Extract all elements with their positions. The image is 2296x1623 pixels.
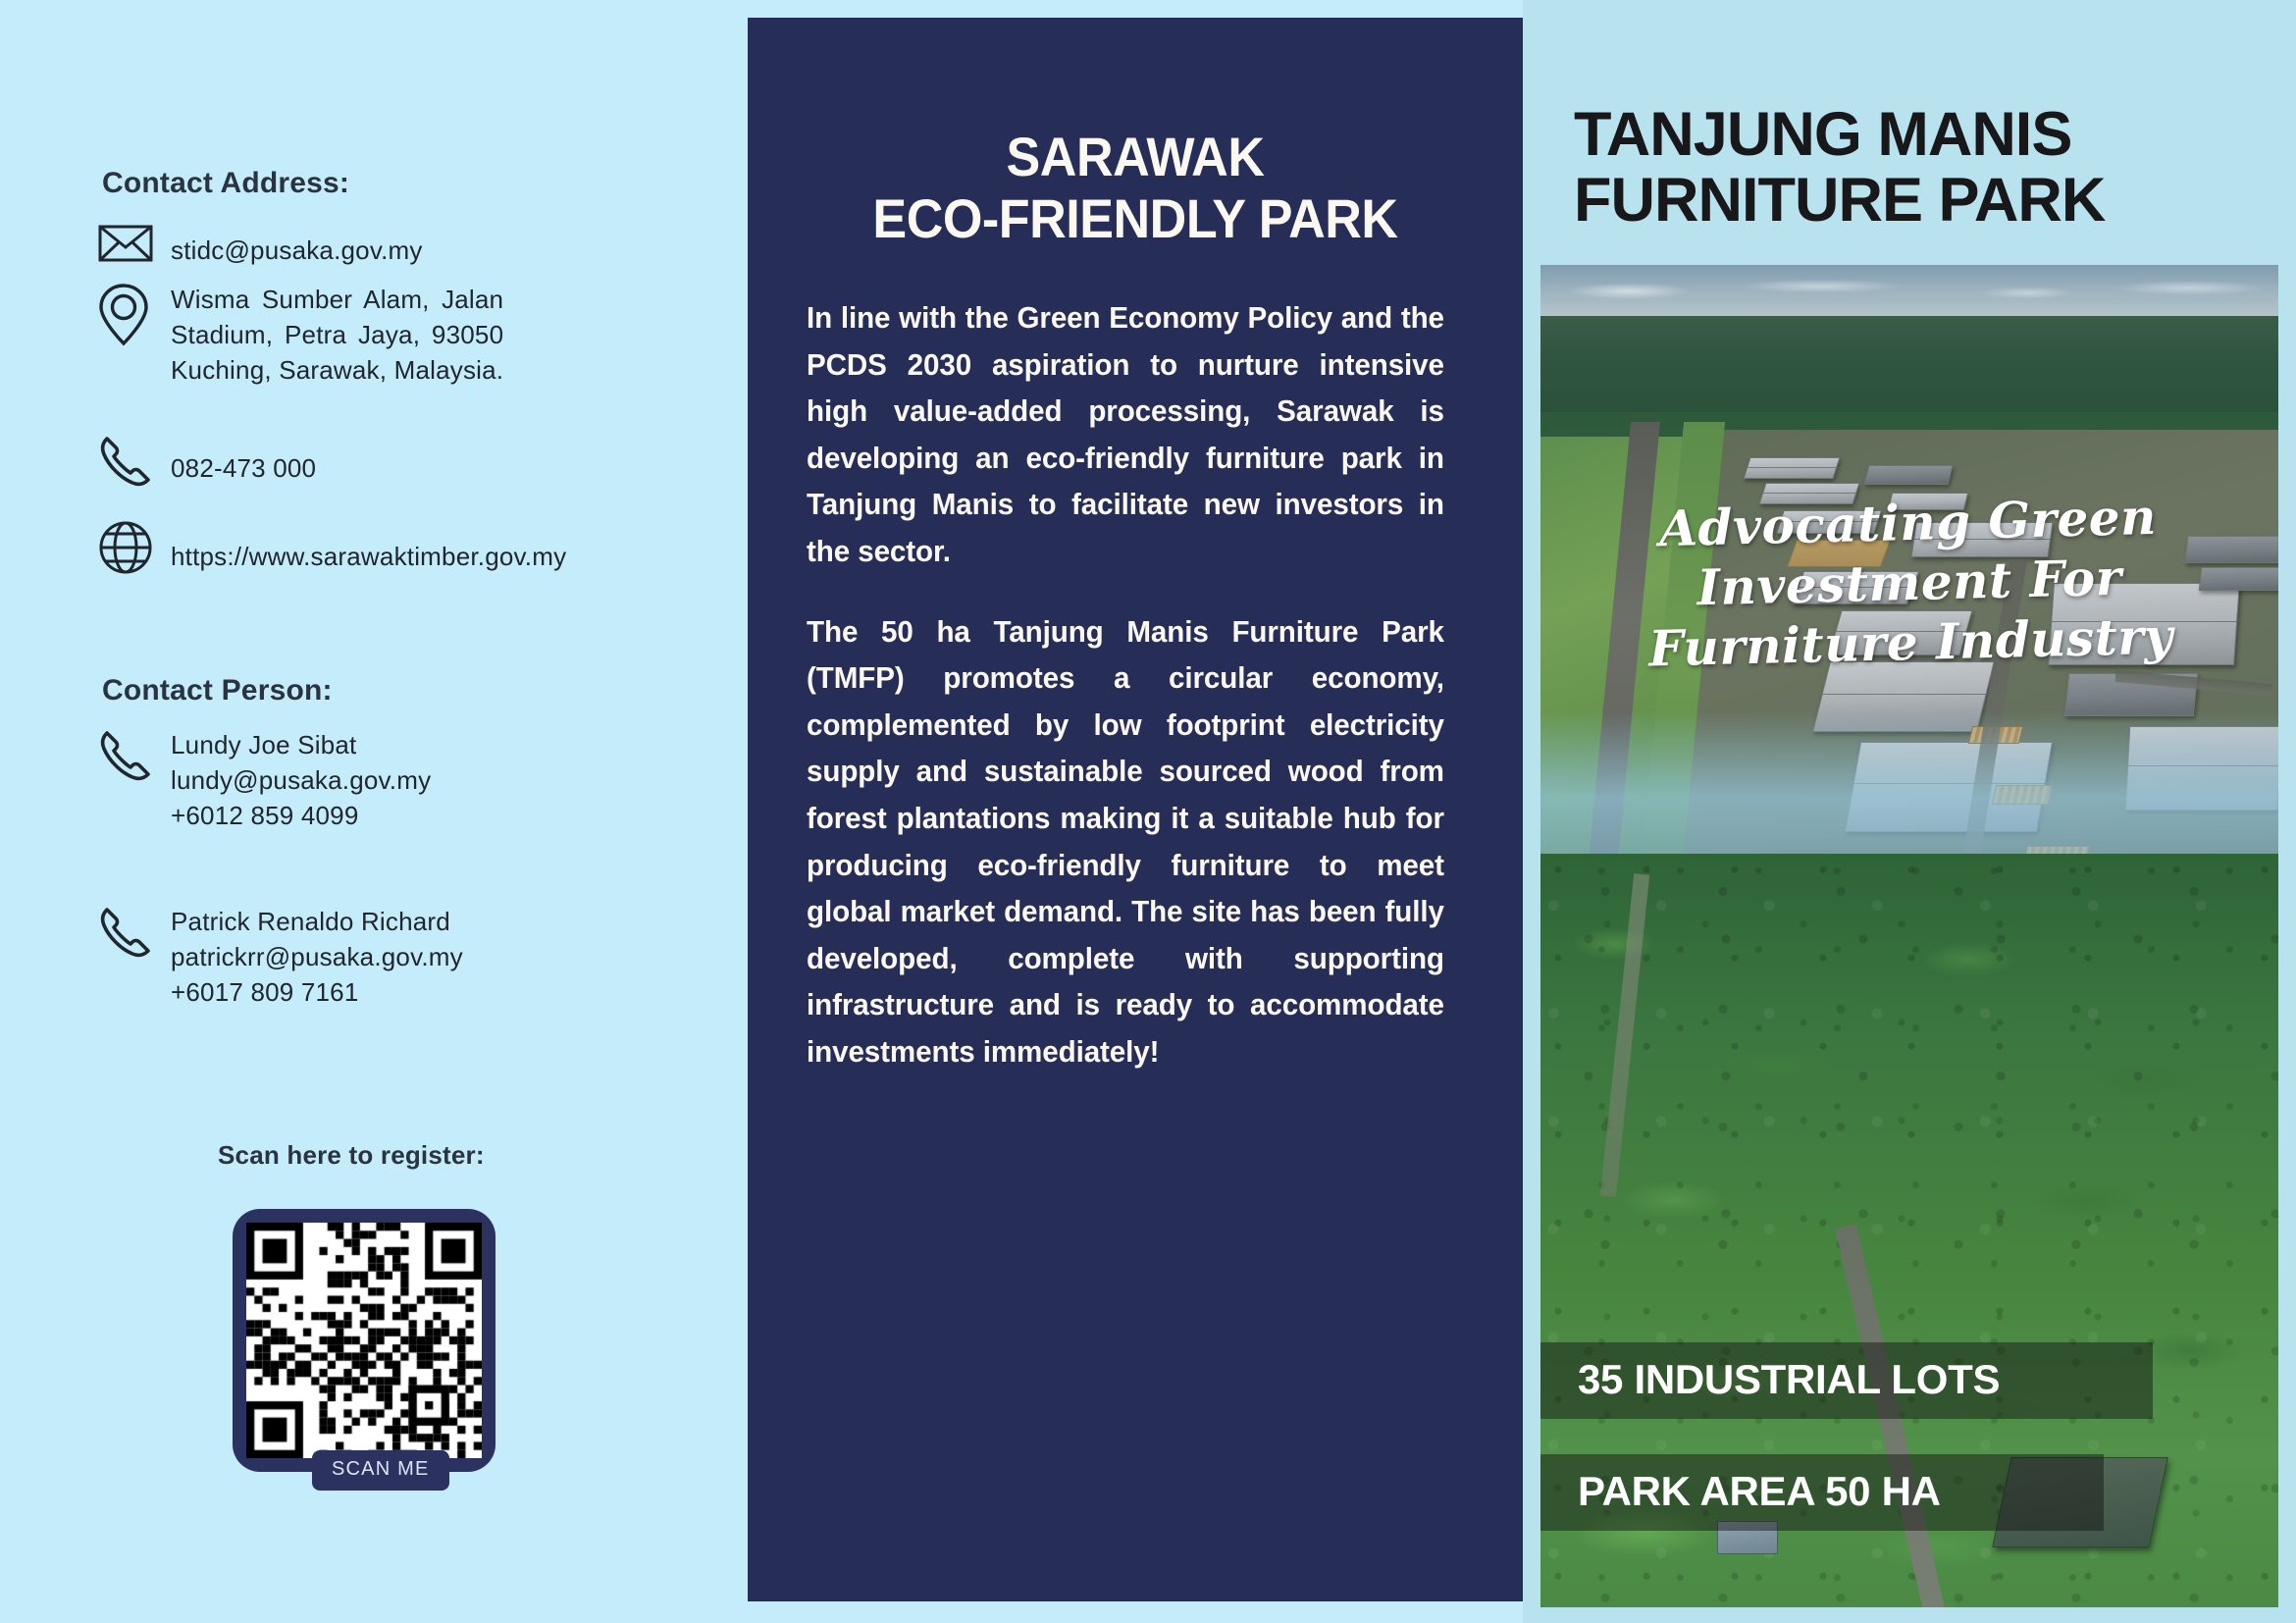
phone-icon: [98, 903, 171, 960]
person-2-email: patrickrr@pusaka.gov.my: [171, 940, 463, 975]
photo-title-line-1: TANJUNG MANIS: [1574, 100, 2071, 169]
panel-title-line-2: ECO-FRIENDLY PARK: [829, 187, 1440, 250]
contact-email[interactable]: stidc@pusaka.gov.my: [171, 224, 423, 269]
person-2-details: Patrick Renaldo Richard patrickrr@pusaka…: [171, 903, 463, 1011]
contact-phone[interactable]: 082-473 000: [171, 432, 316, 487]
qr-code-canvas: [246, 1223, 482, 1458]
contact-person-2: Patrick Renaldo Richard patrickrr@pusaka…: [98, 903, 667, 1011]
contact-person-heading: Contact Person:: [102, 674, 333, 707]
contact-address-heading: Contact Address:: [102, 167, 349, 200]
scan-me-badge: SCAN ME: [312, 1450, 449, 1491]
contact-row-email: stidc@pusaka.gov.my: [98, 224, 648, 269]
qr-code[interactable]: [233, 1209, 496, 1472]
photo-building: [1864, 465, 1954, 485]
map-pin-icon: [98, 283, 171, 347]
contact-row-phone: 082-473 000: [98, 432, 648, 489]
person-1-details: Lundy Joe Sibat lundy@pusaka.gov.my +601…: [171, 726, 431, 834]
panel-title: SARAWAK ECO-FRIENDLY PARK: [829, 126, 1440, 251]
description-panel: SARAWAK ECO-FRIENDLY PARK In line with t…: [748, 18, 1523, 1601]
address-line-3: Kuching, Sarawak, Malaysia.: [171, 353, 503, 389]
contact-panel: Contact Address: stidc@pusaka.gov.my: [0, 0, 748, 1623]
address-line-1: Wisma Sumber Alam, Jalan: [171, 283, 503, 318]
contact-person-1: Lundy Joe Sibat lundy@pusaka.gov.my +601…: [98, 726, 667, 834]
photo-tagline: Advocating Green Investment For Furnitur…: [1540, 484, 2278, 681]
phone-icon: [98, 432, 171, 489]
person-1-name: Lundy Joe Sibat: [171, 728, 431, 763]
contact-row-website: https://www.sarawaktimber.gov.my: [98, 520, 687, 575]
contact-row-address: Wisma Sumber Alam, Jalan Stadium, Petra …: [98, 283, 648, 389]
globe-icon: [98, 520, 171, 575]
description-paragraph-2: The 50 ha Tanjung Manis Furniture Park (…: [807, 609, 1444, 1076]
contact-website[interactable]: https://www.sarawaktimber.gov.my: [171, 520, 566, 575]
description-paragraph-1: In line with the Green Economy Policy an…: [807, 295, 1444, 575]
tagline-line-1: Advocating Green Investment For: [1658, 488, 2157, 616]
person-1-email: lundy@pusaka.gov.my: [171, 763, 431, 799]
envelope-icon: [98, 224, 171, 263]
person-2-name: Patrick Renaldo Richard: [171, 905, 463, 940]
photo-panel: TANJUNG MANIS FURNITURE PARK: [1523, 0, 2296, 1623]
stat-park-area: PARK AREA 50 HA: [1540, 1454, 2104, 1531]
contact-address: Wisma Sumber Alam, Jalan Stadium, Petra …: [171, 283, 503, 389]
photo-building: [1743, 457, 1840, 479]
person-1-phone: +6012 859 4099: [171, 799, 431, 834]
stat-industrial-lots: 35 INDUSTRIAL LOTS: [1540, 1342, 2153, 1419]
photo-panel-title: TANJUNG MANIS FURNITURE PARK: [1574, 102, 2278, 234]
phone-icon: [98, 726, 171, 783]
address-line-2: Stadium, Petra Jaya, 93050: [171, 318, 503, 353]
brochure-page: Contact Address: stidc@pusaka.gov.my: [0, 0, 2296, 1623]
photo-clouds: [1540, 273, 2278, 306]
aerial-photo: Advocating Green Investment For Furnitur…: [1540, 265, 2278, 1607]
photo-title-line-2: FURNITURE PARK: [1574, 168, 2278, 234]
panel-title-line-1: SARAWAK: [1007, 126, 1265, 187]
scan-here-label: Scan here to register:: [218, 1140, 485, 1171]
person-2-phone: +6017 809 7161: [171, 975, 463, 1011]
